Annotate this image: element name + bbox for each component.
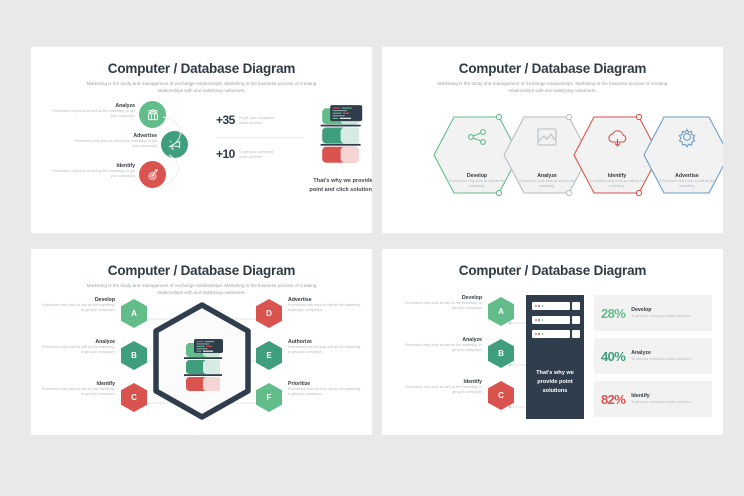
- slide3-right-column: D Advertise Promotions only work as well…: [256, 297, 364, 423]
- list-item[interactable]: Analyze Promotions only work as well as …: [39, 339, 147, 381]
- page-title: Computer / Database Diagram: [31, 263, 372, 278]
- stat-desc: To get your company's name out there: [239, 113, 281, 127]
- page-subtitle: Marketing is the study and management of…: [433, 80, 673, 94]
- stat-label: Develop: [631, 307, 690, 313]
- list-item-desc: Promotions only work as well as the mark…: [49, 169, 135, 180]
- page-title: Computer / Database Diagram: [382, 61, 723, 76]
- slide1-stat-list: +35 To get your company's name out there…: [216, 113, 311, 161]
- stat-label: Identify: [631, 393, 690, 399]
- page-title: Computer / Database Diagram: [382, 263, 723, 278]
- list-item[interactable]: Develop Promotions only work as well as …: [39, 297, 147, 339]
- stat-card[interactable]: 82% Identify To get your company's name …: [594, 381, 712, 417]
- stat-card[interactable]: 40% Analyze To get your company's name o…: [594, 338, 712, 374]
- stat-text: Identify To get your company's name out …: [631, 393, 690, 405]
- hex-badge-c: C: [488, 381, 514, 410]
- slide3-left-column: Develop Promotions only work as well as …: [39, 297, 147, 423]
- slide-3[interactable]: Computer / Database Diagram Marketing is…: [31, 249, 372, 435]
- hex-badge-d: D: [256, 299, 282, 328]
- hex-text-analyze: Analyze Promotions only work as well as …: [518, 173, 576, 190]
- slide1-row-text: Identify Promotions only work as well as…: [49, 163, 135, 180]
- slide1-connector: [149, 107, 219, 207]
- item-desc: Promotions only work as well as the mark…: [41, 345, 115, 356]
- page-title: Computer / Database Diagram: [31, 61, 372, 76]
- slide4-stat-cards: 28% Develop To get your company's name o…: [594, 295, 712, 424]
- stat-percent: 28%: [601, 306, 625, 321]
- item-text: Authorize Promotions only work as well a…: [288, 339, 364, 356]
- stat-percent: 82%: [601, 392, 625, 407]
- list-item[interactable]: Identify Promotions only work as well as…: [39, 381, 147, 423]
- server-row-indicator: [572, 330, 580, 338]
- server-row-indicator: [572, 302, 580, 310]
- stat-label: Analyze: [631, 350, 690, 356]
- page-subtitle: Marketing is the study and management of…: [82, 80, 322, 94]
- slide-1[interactable]: Computer / Database Diagram Marketing is…: [31, 47, 372, 233]
- stat-desc: To get your company's name out there: [239, 147, 281, 161]
- stat-item[interactable]: +35 To get your company's name out there: [216, 113, 311, 127]
- item-desc: Promotions only work as well as the mark…: [41, 387, 115, 398]
- server-rack-graphic: That's why we provide point solutions: [526, 295, 584, 419]
- item-desc: Promotions only work as well as the mark…: [288, 303, 364, 314]
- item-text: Prioritize Promotions only work as well …: [288, 381, 364, 398]
- server-row: [532, 316, 570, 324]
- hex-text-advertise: Advertise Promotions only work as well a…: [658, 173, 716, 190]
- hex-badge-a: A: [121, 299, 147, 328]
- list-item-desc: Promotions only work as well as the mark…: [49, 109, 135, 120]
- slide1-row-text: Analyze Promotions only work as well as …: [49, 103, 135, 120]
- stat-card[interactable]: 28% Develop To get your company's name o…: [594, 295, 712, 331]
- server-row-indicator: [572, 316, 580, 324]
- slide-2[interactable]: Computer / Database Diagram Marketing is…: [382, 47, 723, 233]
- center-hexagon-graphic: [149, 301, 255, 421]
- hex-text-develop: Develop Promotions only work as well as …: [448, 173, 506, 190]
- item-text: Advertise Promotions only work as well a…: [288, 297, 364, 314]
- list-item[interactable]: E Authorize Promotions only work as well…: [256, 339, 364, 381]
- item-desc: Promotions only work as well as the mark…: [288, 345, 364, 356]
- slide1-row-text: Advertise Promotions only work as well a…: [71, 133, 157, 150]
- hex-text-identify: Identify Promotions only work as well as…: [588, 173, 646, 190]
- divider: [216, 137, 304, 138]
- item-desc: Promotions only work as well as the mark…: [404, 343, 482, 354]
- slide1-caption: That's why we provide point and click so…: [307, 177, 372, 194]
- slide-4[interactable]: Computer / Database Diagram Develop Prom…: [382, 249, 723, 435]
- stat-text: Analyze To get your company's name out t…: [631, 350, 690, 362]
- list-item[interactable]: D Advertise Promotions only work as well…: [256, 297, 364, 339]
- hexagon-flow: [382, 105, 723, 205]
- hex-desc: Promotions only work as well as the mark…: [588, 179, 646, 190]
- item-desc: Promotions only work as well as the mark…: [404, 301, 482, 312]
- item-desc: Promotions only work as well as the mark…: [288, 387, 364, 398]
- stat-item[interactable]: +10 To get your company's name out there: [216, 147, 311, 161]
- stat-desc: To get your company's name out there: [631, 400, 690, 405]
- item-text: Analyze Promotions only work as well as …: [404, 337, 482, 354]
- list-item[interactable]: Identify Promotions only work as well as…: [396, 379, 516, 421]
- hex-badge-f: F: [256, 383, 282, 412]
- item-text: Develop Promotions only work as well as …: [41, 297, 115, 314]
- hex-badge-c: C: [121, 383, 147, 412]
- hex-badge-b: B: [488, 339, 514, 368]
- item-text: Identify Promotions only work as well as…: [404, 379, 482, 396]
- server-stack-graphic: [319, 105, 367, 171]
- slide-deck: Computer / Database Diagram Marketing is…: [0, 0, 744, 496]
- hex-badge-b: B: [121, 341, 147, 370]
- server-row: [532, 302, 570, 310]
- stat-text: Develop To get your company's name out t…: [631, 307, 690, 319]
- list-item[interactable]: F Prioritize Promotions only work as wel…: [256, 381, 364, 423]
- item-text: Develop Promotions only work as well as …: [404, 295, 482, 312]
- item-desc: Promotions only work as well as the mark…: [404, 385, 482, 396]
- stat-value: +35: [216, 113, 235, 127]
- stat-value: +10: [216, 147, 235, 161]
- server-caption: That's why we provide point solutions: [531, 369, 579, 396]
- list-item-desc: Promotions only work as well as the mark…: [71, 139, 157, 150]
- item-desc: Promotions only work as well as the mark…: [41, 303, 115, 314]
- slide4-item-list: Develop Promotions only work as well as …: [396, 295, 516, 421]
- hex-badge-a: A: [488, 297, 514, 326]
- item-text: Identify Promotions only work as well as…: [41, 381, 115, 398]
- list-item[interactable]: Analyze Promotions only work as well as …: [396, 337, 516, 379]
- hex-badge-e: E: [256, 341, 282, 370]
- list-item[interactable]: Develop Promotions only work as well as …: [396, 295, 516, 337]
- stat-desc: To get your company's name out there: [631, 314, 690, 319]
- page-subtitle: Marketing is the study and management of…: [82, 282, 322, 296]
- stat-desc: To get your company's name out there: [631, 357, 690, 362]
- hex-desc: Promotions only work as well as the mark…: [448, 179, 506, 190]
- hex-desc: Promotions only work as well as the mark…: [518, 179, 576, 190]
- hex-desc: Promotions only work as well as the mark…: [658, 179, 716, 190]
- item-text: Analyze Promotions only work as well as …: [41, 339, 115, 356]
- stat-percent: 40%: [601, 349, 625, 364]
- server-row: [532, 330, 570, 338]
